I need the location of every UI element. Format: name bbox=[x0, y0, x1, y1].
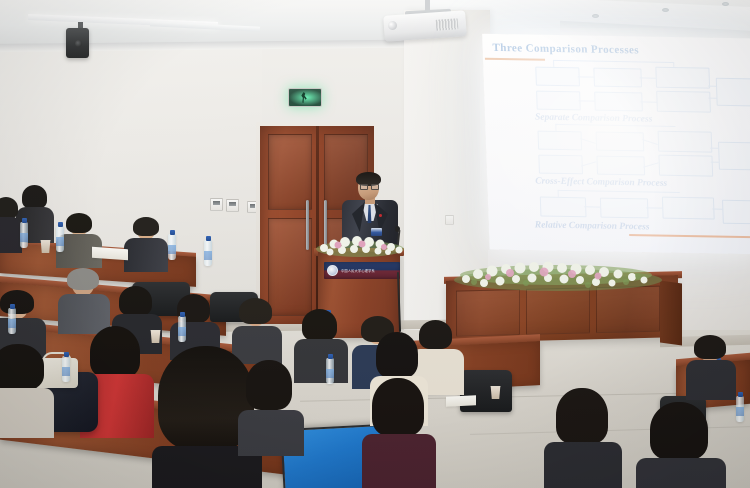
slide-accent-rule bbox=[485, 58, 545, 61]
university-seal-icon bbox=[327, 265, 338, 276]
speaker-cone bbox=[75, 40, 82, 47]
water-bottle bbox=[736, 396, 744, 422]
podium-banner: 中国人民大学心理学系 bbox=[324, 262, 400, 279]
slide-accent-rule-bottom bbox=[629, 234, 750, 238]
coffee-cup bbox=[150, 330, 161, 343]
water-bottle bbox=[62, 356, 70, 382]
water-bottle bbox=[56, 226, 64, 252]
water-bottle bbox=[204, 240, 212, 266]
door-handle-icon[interactable] bbox=[306, 200, 309, 250]
emergency-exit-sign bbox=[288, 88, 322, 107]
light-switch-plate[interactable] bbox=[210, 198, 223, 211]
slide-title: Three Comparison Processes bbox=[492, 42, 639, 57]
downlight-icon bbox=[662, 8, 669, 12]
coffee-cup bbox=[490, 386, 501, 399]
head-table-floral-arrangement bbox=[448, 258, 668, 292]
conference-photo: Three Comparison Processes Separate Comp… bbox=[0, 0, 750, 488]
presenter-lapel-pin bbox=[379, 214, 382, 217]
downlight-icon bbox=[722, 2, 729, 6]
water-bottle bbox=[20, 222, 28, 248]
projection-screen: Three Comparison Processes Separate Comp… bbox=[482, 34, 750, 255]
podium-banner-text: 中国人民大学心理学系 bbox=[341, 269, 375, 273]
water-bottle bbox=[168, 234, 176, 260]
audience-chair[interactable] bbox=[460, 370, 512, 412]
slide-section-label: Relative Comparison Process bbox=[535, 220, 650, 232]
water-bottle bbox=[178, 316, 186, 342]
wall-outlet[interactable] bbox=[445, 215, 454, 225]
water-bottle bbox=[326, 358, 334, 384]
water-bottle bbox=[8, 308, 16, 334]
slide-section-label: Separate Comparison Process bbox=[535, 113, 653, 125]
projector-vent bbox=[436, 18, 459, 31]
coffee-cup bbox=[40, 240, 51, 253]
downlight-icon bbox=[592, 14, 599, 18]
notepad bbox=[446, 395, 476, 407]
podium-floral-arrangement bbox=[314, 232, 406, 258]
eyeglasses-icon bbox=[360, 184, 377, 188]
ceiling-speaker-icon bbox=[66, 28, 89, 58]
light-switch-plate[interactable] bbox=[226, 199, 239, 212]
slide-section-label: Cross-Effect Comparison Process bbox=[535, 176, 667, 188]
